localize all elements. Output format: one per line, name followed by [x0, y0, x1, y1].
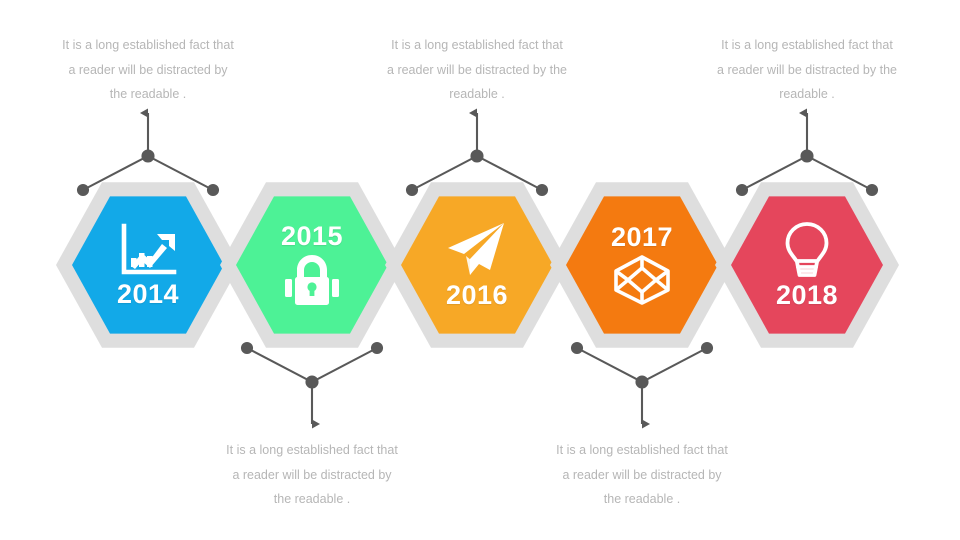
paper-plane-icon [446, 221, 508, 279]
timeline-infographic: It is a long established fact that a rea… [0, 0, 960, 540]
milestone-year: 2014 [117, 281, 179, 308]
caption-2015: It is a long established fact that a rea… [206, 438, 418, 512]
milestone-hexagon-2018[interactable]: 2018 [715, 177, 899, 353]
briefcase-lock-icon [283, 253, 341, 307]
caption-2018: It is a long established fact that a rea… [696, 33, 918, 107]
caption-2014: It is a long established fact that a rea… [42, 33, 254, 107]
caption-2016: It is a long established fact that a rea… [366, 33, 588, 107]
milestone-hexagon-2017[interactable]: 2017 [550, 177, 734, 353]
milestone-year: 2017 [611, 224, 673, 251]
chart-growth-icon [117, 222, 179, 278]
milestone-hexagon-2014[interactable]: 2014 [56, 177, 240, 353]
lightbulb-icon [781, 221, 833, 279]
milestone-hexagon-2016[interactable]: 2016 [385, 177, 569, 353]
caption-2017: It is a long established fact that a rea… [536, 438, 748, 512]
milestone-year: 2016 [446, 282, 508, 309]
milestone-hexagon-2015[interactable]: 2015 [220, 177, 404, 353]
cube-wireframe-icon [613, 254, 671, 306]
milestone-year: 2018 [776, 282, 838, 309]
milestone-year: 2015 [281, 223, 343, 250]
